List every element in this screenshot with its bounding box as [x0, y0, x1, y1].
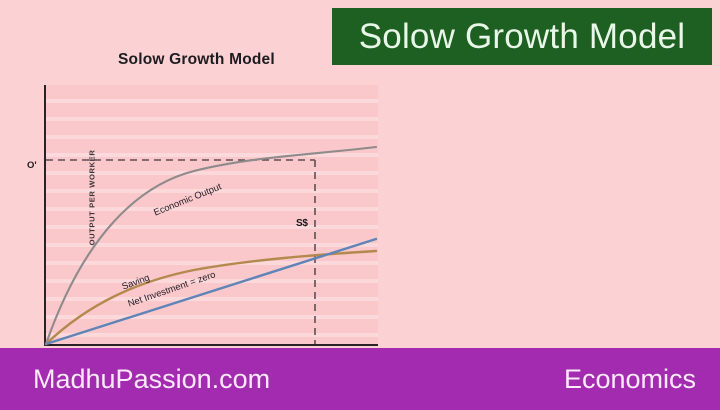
chart-title: Solow Growth Model — [118, 51, 275, 69]
y-intercept-marker-label: O' — [27, 160, 37, 171]
y-axis-title: OUTPUT PER WORKER — [88, 128, 97, 268]
title-banner-text: Solow Growth Model — [359, 17, 686, 57]
footer-bar: MadhuPassion.com Economics — [0, 348, 720, 410]
chart-figure: Solow Growth Model Economic Output Savin… — [0, 40, 400, 330]
plot-area: Economic Output Saving Net Investment = … — [44, 85, 378, 346]
screenshot-root: Solow Growth Model Solow Growth Model Ec… — [0, 0, 720, 410]
equilibrium-marker-label: S$ — [296, 218, 308, 229]
footer-site-label: MadhuPassion.com — [33, 364, 270, 395]
footer-subject-label: Economics — [564, 364, 696, 395]
